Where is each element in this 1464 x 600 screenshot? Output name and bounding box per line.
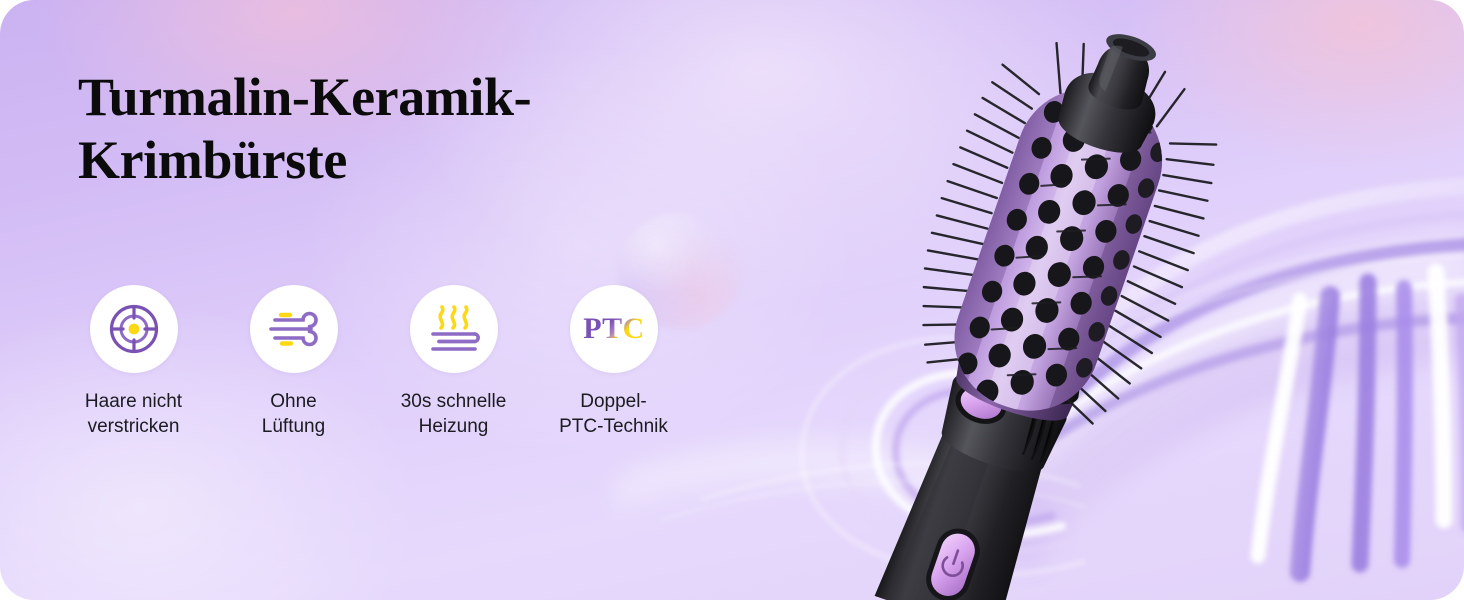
wind-no-airflow-icon xyxy=(265,301,323,357)
feature-list: Haare nicht verstricken Ohne Lüftung xyxy=(72,285,675,439)
page-title: Turmalin-Keramik- Krimbürste xyxy=(78,66,798,191)
feature-badge xyxy=(410,285,498,373)
feature-badge: PTC xyxy=(570,285,658,373)
product-image-hot-air-brush xyxy=(790,0,1350,600)
feature-caption: Doppel- PTC-Technik xyxy=(559,389,668,439)
feature-item-no-airflow[interactable]: Ohne Lüftung xyxy=(232,285,355,439)
feature-caption: Haare nicht verstricken xyxy=(85,389,182,439)
feature-badge xyxy=(90,285,178,373)
feature-item-ptc[interactable]: PTC Doppel- PTC-Technik xyxy=(552,285,675,439)
target-crosshair-icon xyxy=(106,301,162,357)
heat-waves-plates-icon xyxy=(426,300,482,358)
feature-item-no-tangle[interactable]: Haare nicht verstricken xyxy=(72,285,195,439)
ptc-label: PTC xyxy=(583,312,645,345)
feature-badge xyxy=(250,285,338,373)
feature-caption: Ohne Lüftung xyxy=(262,389,325,439)
product-feature-banner: Turmalin-Keramik- Krimbürste Ha xyxy=(0,0,1464,600)
feature-caption: 30s schnelle Heizung xyxy=(401,389,507,439)
feature-item-fast-heating[interactable]: 30s schnelle Heizung xyxy=(392,285,515,439)
ptc-logo-icon: PTC xyxy=(575,309,653,349)
